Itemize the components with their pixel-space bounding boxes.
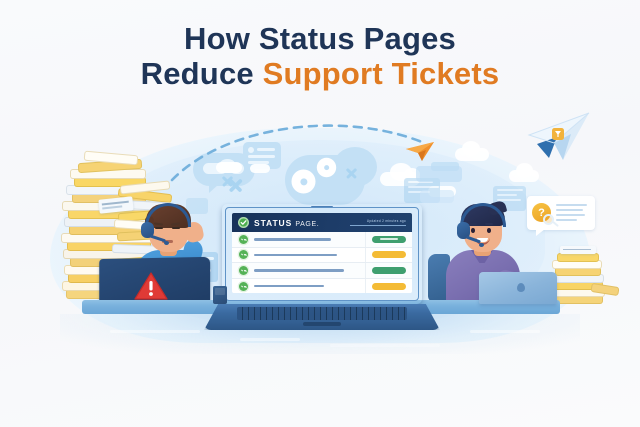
status-badge xyxy=(372,283,406,290)
status-page-meta: Updated 2 minutes ago xyxy=(350,219,406,226)
desk-highlight xyxy=(470,330,540,333)
headset-mic xyxy=(479,243,484,247)
paper-plane-orange xyxy=(405,140,437,167)
desk-highlight xyxy=(330,344,440,347)
left-laptop xyxy=(96,258,208,304)
service-name-bar xyxy=(254,269,361,272)
check-circle-icon xyxy=(238,217,249,228)
title-line-2-accent: Support Tickets xyxy=(263,56,500,91)
infographic-canvas: How Status Pages Reduce Support Tickets xyxy=(0,0,640,427)
status-page-title: STATUS PAGE. xyxy=(254,218,319,228)
send-badge-icon xyxy=(552,128,564,140)
table-row[interactable] xyxy=(232,279,412,293)
desk-highlight xyxy=(240,338,300,341)
status-updated-text: Updated 2 minutes ago xyxy=(350,219,406,223)
warning-triangle-icon xyxy=(134,271,168,301)
page-title: How Status Pages Reduce Support Tickets xyxy=(0,22,640,91)
status-title-strong: STATUS xyxy=(254,218,292,228)
agent-eye-left xyxy=(471,228,475,233)
dashed-arc-arrow xyxy=(170,108,570,188)
laptop-trackpad[interactable] xyxy=(303,322,341,326)
check-circle-icon xyxy=(239,282,248,291)
center-laptop: STATUS PAGE. Updated 2 minutes ago xyxy=(222,204,422,304)
status-title-light: PAGE xyxy=(295,221,316,228)
service-name-bar xyxy=(254,254,361,257)
webcam-icon xyxy=(311,206,333,208)
status-rows xyxy=(232,232,412,293)
service-name-bar xyxy=(254,238,361,241)
check-circle-icon xyxy=(239,266,248,275)
bubble-text-lines xyxy=(556,204,590,224)
support-question-bubble: ? xyxy=(527,196,595,230)
title-line-2: Reduce Support Tickets xyxy=(0,57,640,92)
laptop-base xyxy=(204,304,440,330)
right-laptop xyxy=(479,272,557,304)
status-badge xyxy=(372,236,406,243)
status-badge xyxy=(372,251,406,258)
headset-mic xyxy=(164,241,169,245)
row-divider xyxy=(365,248,366,263)
status-page-header: STATUS PAGE. Updated 2 minutes ago xyxy=(232,213,412,232)
row-divider xyxy=(365,279,366,293)
table-row[interactable] xyxy=(232,232,412,248)
agent-eye-left xyxy=(155,227,163,229)
table-row[interactable] xyxy=(232,248,412,264)
title-line-2-prefix: Reduce xyxy=(141,56,263,91)
status-title-punct: . xyxy=(317,221,320,228)
desk-speaker xyxy=(213,286,227,304)
row-divider xyxy=(365,263,366,278)
meta-underline xyxy=(350,225,406,226)
check-circle-icon xyxy=(239,250,248,259)
desk-highlight xyxy=(110,330,200,333)
check-circle-icon xyxy=(239,235,248,244)
row-divider xyxy=(365,232,366,247)
right-laptop-logo xyxy=(517,283,525,292)
agent-eye-right xyxy=(172,227,180,229)
status-badge xyxy=(372,267,406,274)
status-page-screen[interactable]: STATUS PAGE. Updated 2 minutes ago xyxy=(232,213,412,293)
laptop-keyboard[interactable] xyxy=(237,307,407,320)
title-line-1: How Status Pages xyxy=(0,22,640,57)
service-name-bar xyxy=(254,285,361,288)
agent-eye-right xyxy=(487,228,491,233)
table-row[interactable] xyxy=(232,263,412,279)
